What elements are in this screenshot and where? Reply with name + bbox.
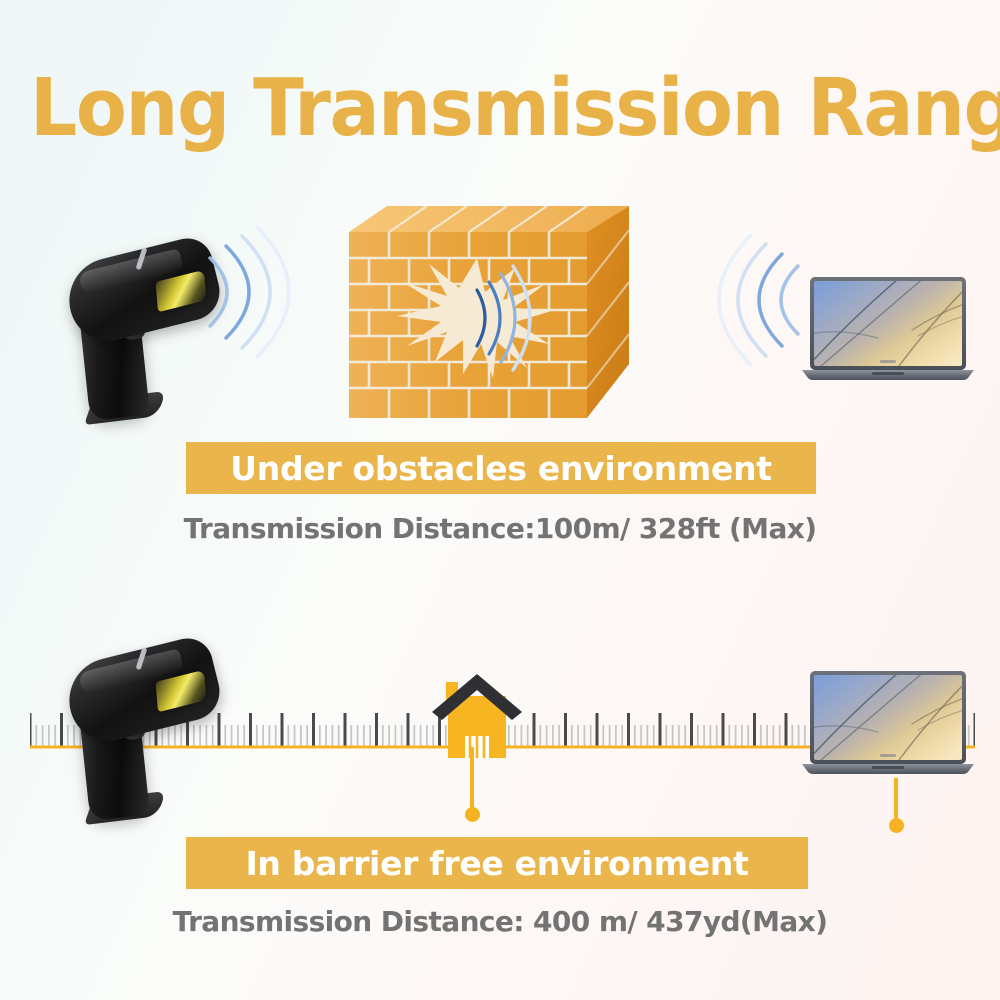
pin-stem (470, 747, 474, 809)
banner-label-1: Under obstacles environment (230, 449, 772, 488)
subtitle-under-obstacles: Transmission Distance:100m/ 328ft (Max) (0, 512, 1000, 545)
wireless-signal-icon-right (702, 236, 812, 364)
banner-label-2: In barrier free environment (245, 844, 748, 883)
house-icon (422, 668, 532, 758)
measurement-pin-icon-laptop (889, 778, 904, 834)
banner-under-obstacles: Under obstacles environment (186, 442, 816, 494)
pin-dot (465, 807, 480, 822)
subtitle-barrier-free: Transmission Distance: 400 m/ 437yd(Max) (0, 905, 1000, 938)
brick-wall-icon (349, 206, 629, 418)
banner-barrier-free: In barrier free environment (186, 837, 808, 889)
laptop-icon-bottom (800, 666, 976, 776)
infographic-canvas: Long Transmission Range (0, 0, 1000, 1000)
page-title: Long Transmission Range (30, 62, 970, 154)
pin-dot-2 (889, 818, 904, 833)
measurement-pin-icon-house (465, 747, 480, 823)
barcode-scanner-icon-bottom (62, 648, 252, 828)
wireless-signal-icon-left (196, 228, 306, 356)
laptop-icon-top (800, 272, 976, 382)
pin-stem-2 (894, 778, 898, 820)
